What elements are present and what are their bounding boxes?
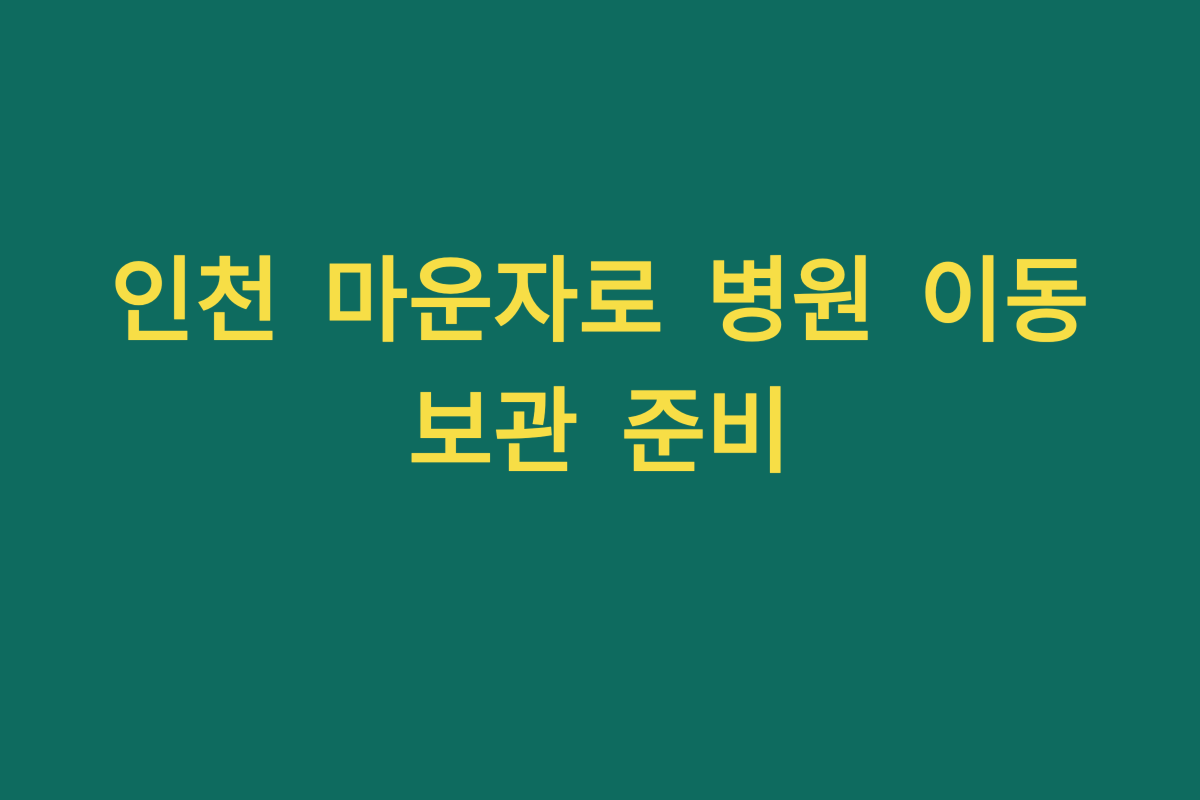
headline-line-1: 인천 마운자로 병원 이동 bbox=[40, 237, 1160, 368]
headline: 인천 마운자로 병원 이동 보관 준비 bbox=[40, 237, 1160, 498]
text-banner: 인천 마운자로 병원 이동 보관 준비 bbox=[0, 0, 1200, 800]
headline-line-2: 보관 준비 bbox=[40, 368, 1160, 499]
